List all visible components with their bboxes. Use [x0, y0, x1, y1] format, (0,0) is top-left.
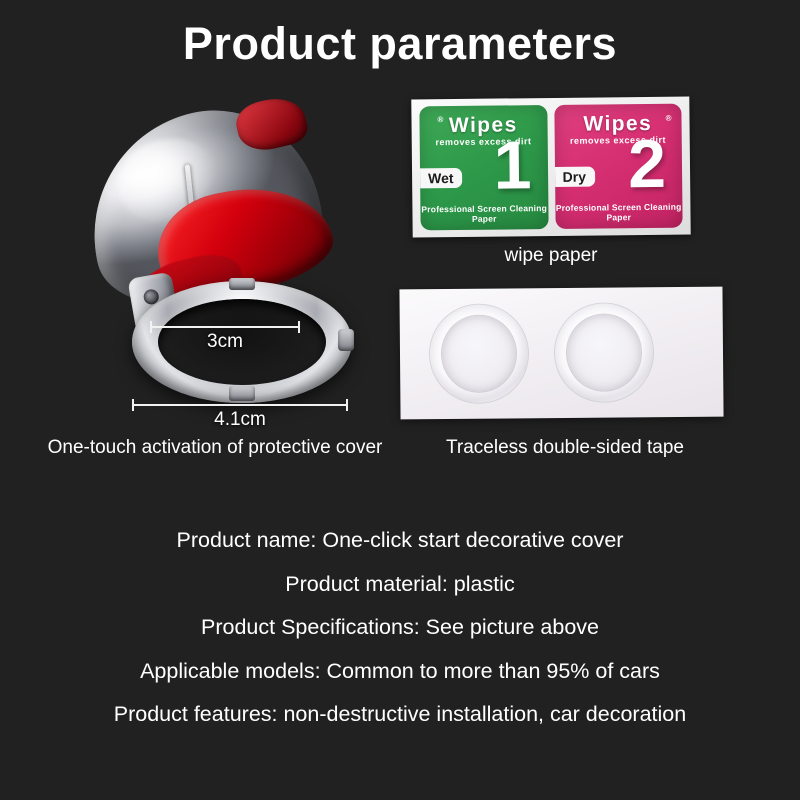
spec-line-product-name: Product name: One-click start decorative…	[0, 530, 800, 552]
spec-line-product-specifications: Product Specifications: See picture abov…	[0, 617, 800, 639]
spec-line-product-material: Product material: plastic	[0, 574, 800, 596]
device-product-image	[40, 95, 390, 405]
wipe-paper-image: ® Wipes removes excess dirt 1 Wet Profes…	[411, 97, 690, 238]
wipe-type-tag: Dry	[554, 167, 595, 187]
specifications-list: Product name: One-click start decorative…	[0, 530, 800, 748]
double-sided-tape-image	[399, 287, 723, 420]
inner-diameter-dimension-line	[150, 326, 300, 328]
wipe-panel-dry: ® Wipes removes excess dirt 2 Dry Profes…	[554, 104, 683, 229]
wipe-step-number: 1	[493, 131, 532, 199]
inner-diameter-label: 3cm	[150, 331, 300, 353]
wipe-paper-caption: wipe paper	[412, 245, 690, 267]
wipe-type-tag: Wet	[419, 168, 462, 188]
wipe-footer-label: Professional Screen Cleaning Paper	[555, 202, 683, 223]
ring-notch-right	[338, 329, 354, 351]
outer-diameter-label: 4.1cm	[132, 409, 348, 431]
page-title: Product parameters	[0, 18, 800, 70]
spec-line-applicable-models: Applicable models: Common to more than 9…	[0, 661, 800, 683]
tape-ring-right	[555, 303, 654, 402]
wipe-panel-wet: ® Wipes removes excess dirt 1 Wet Profes…	[419, 105, 548, 230]
ring-notch-bottom	[229, 386, 255, 401]
outer-diameter-dimension-line	[132, 404, 348, 406]
wipe-step-number: 2	[628, 130, 667, 198]
wipe-footer-label: Professional Screen Cleaning Paper	[420, 203, 548, 224]
ring-notch-top	[229, 278, 255, 290]
device-caption: One-touch activation of protective cover	[20, 437, 410, 459]
tape-ring-left	[430, 304, 529, 403]
product-parameters-page: Product parameters 3cm 4.1cm One-touch a…	[0, 0, 800, 800]
tape-caption: Traceless double-sided tape	[400, 437, 730, 459]
spec-line-product-features: Product features: non-destructive instal…	[0, 704, 800, 726]
